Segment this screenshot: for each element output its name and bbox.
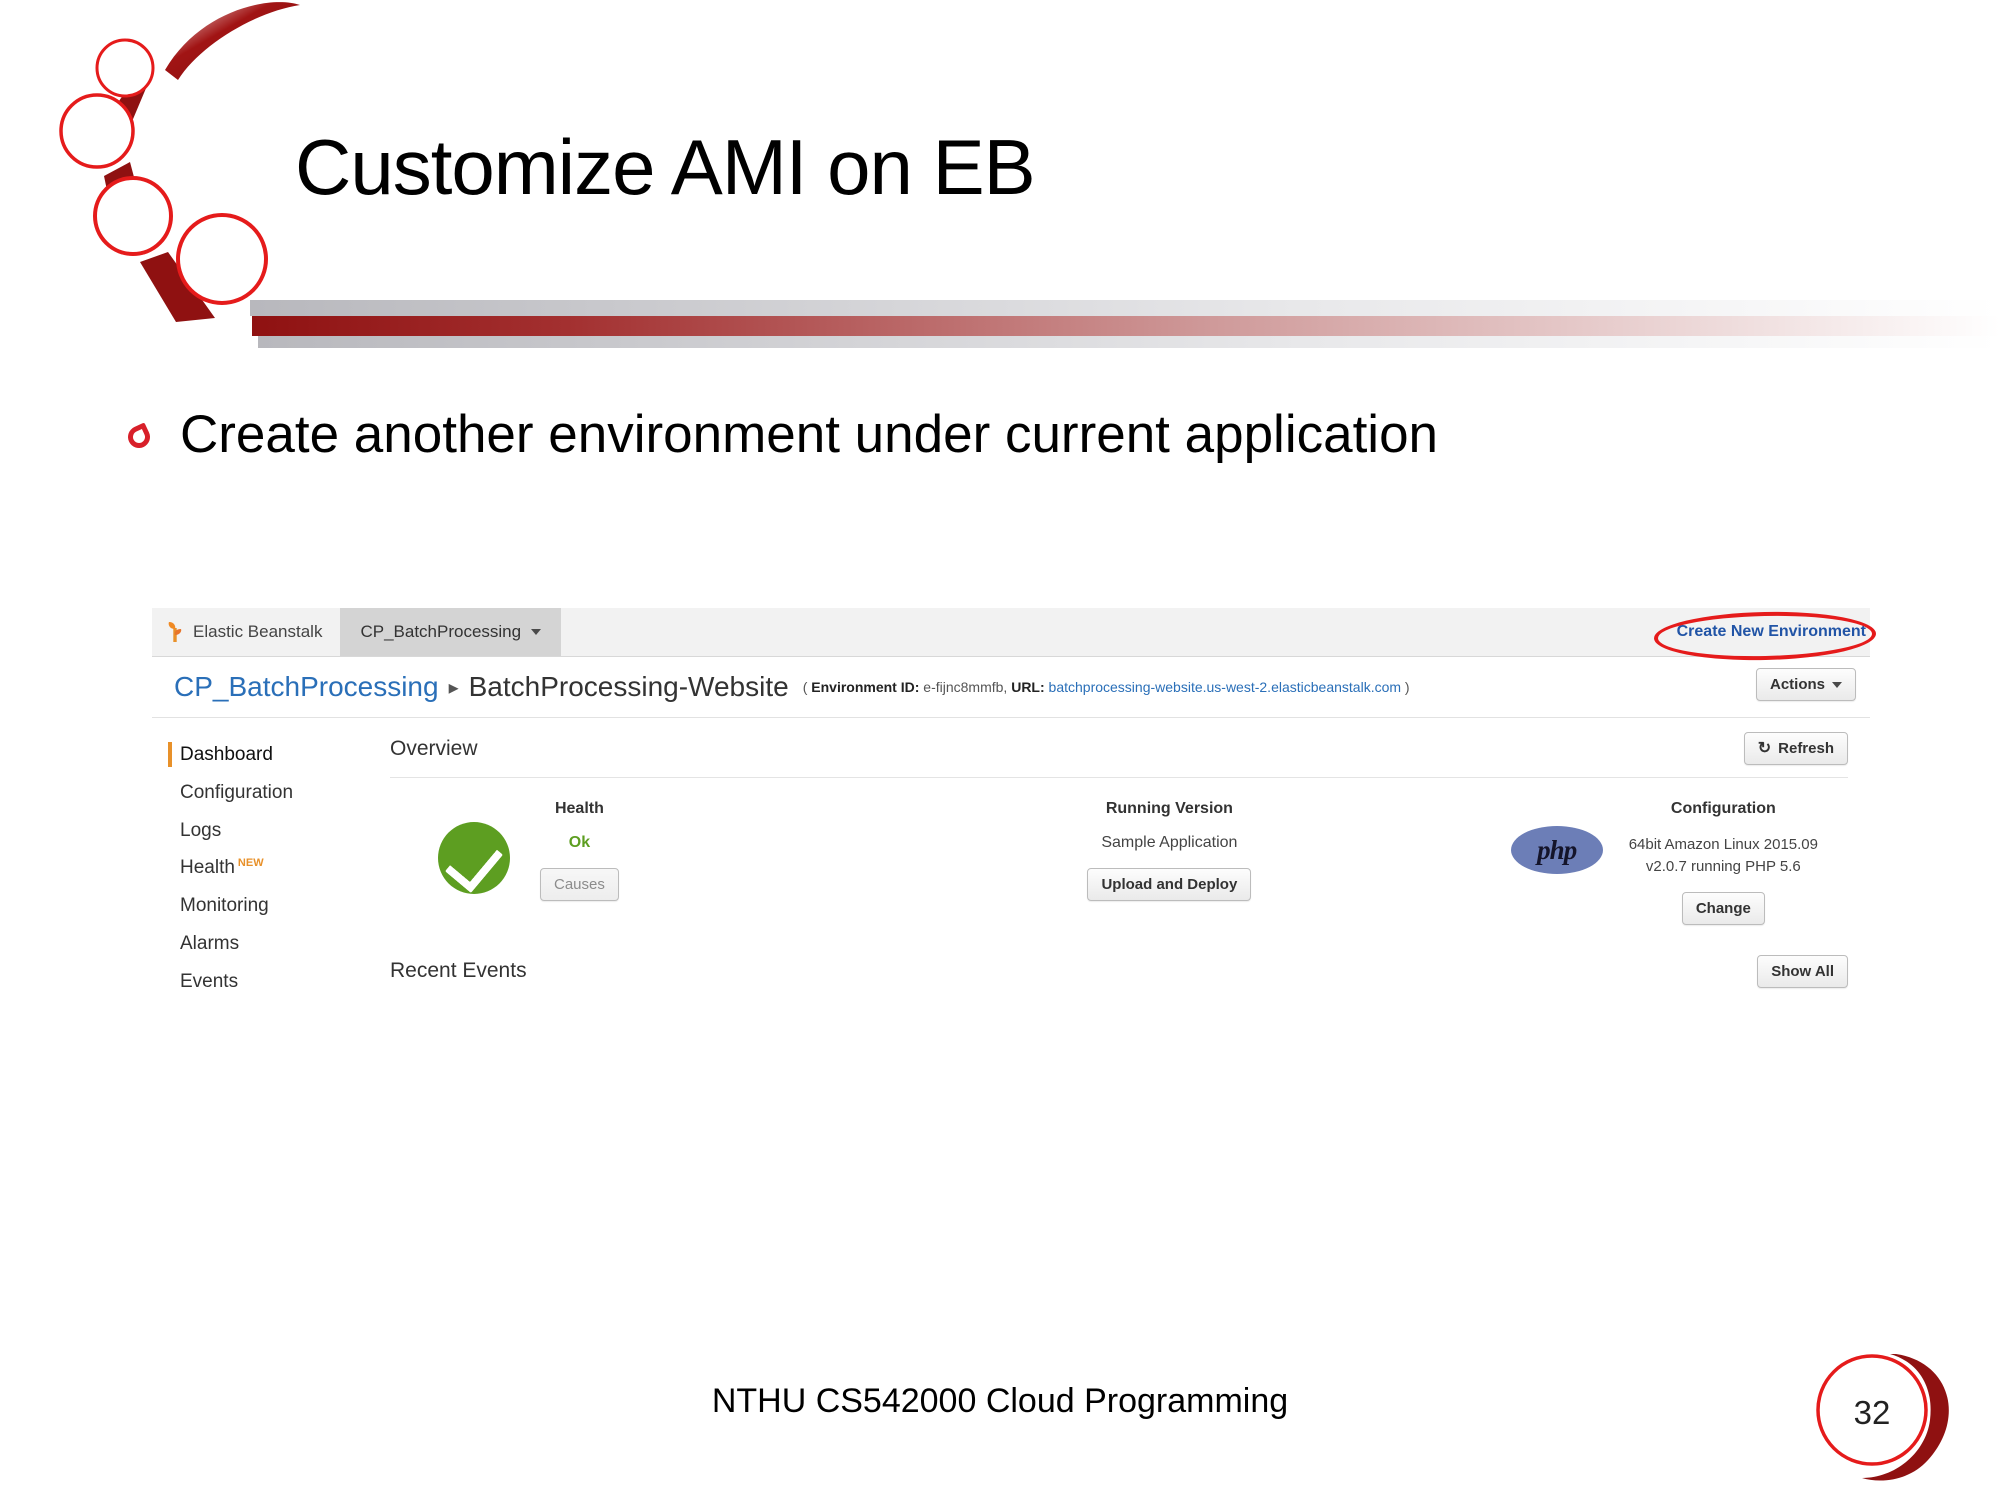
breadcrumb-environment: BatchProcessing-Website <box>469 671 789 703</box>
breadcrumb-separator-icon: ▸ <box>449 675 459 700</box>
overview-title: Overview <box>390 737 478 761</box>
sidebar-item-events[interactable]: Events <box>168 963 368 1001</box>
sidebar-item-alarms[interactable]: Alarms <box>168 925 368 963</box>
new-badge: NEW <box>238 857 264 869</box>
sidebar-item-label: Monitoring <box>180 895 269 916</box>
create-new-environment-label: Create New Environment <box>1677 623 1866 641</box>
refresh-icon: ↻ <box>1758 741 1771 757</box>
php-logo-icon: php <box>1511 826 1603 874</box>
refresh-button[interactable]: ↻ Refresh <box>1744 732 1848 765</box>
health-status: Ok <box>540 834 619 852</box>
overview-configuration-column: php Configuration 64bit Amazon Linux 201… <box>1404 800 1848 925</box>
sidebar-item-monitoring[interactable]: Monitoring <box>168 887 368 925</box>
show-all-button[interactable]: Show All <box>1757 955 1848 988</box>
sidebar-item-label: Alarms <box>180 933 239 954</box>
create-new-environment-link[interactable]: Create New Environment <box>1677 608 1870 656</box>
recent-events-title: Recent Events <box>390 959 527 983</box>
refresh-button-label: Refresh <box>1778 740 1834 757</box>
overview-running-version-column: Running Version Sample Application Uploa… <box>935 800 1404 925</box>
health-label: Health <box>540 800 619 818</box>
change-button-label: Change <box>1696 900 1751 917</box>
page-number-badge: 32 <box>1800 1348 1972 1484</box>
platform-line-2: v2.0.7 running PHP 5.6 <box>1629 856 1818 878</box>
sidebar-item-label: Logs <box>180 820 221 841</box>
tab-application-label: CP_BatchProcessing <box>360 622 521 642</box>
meta-open-paren: ( <box>803 679 808 695</box>
chevron-down-icon <box>1832 682 1842 688</box>
breadcrumb-application[interactable]: CP_BatchProcessing <box>174 671 439 703</box>
bullet-text: Create another environment under current… <box>180 404 1438 465</box>
beanstalk-icon <box>166 621 184 643</box>
breadcrumb: CP_BatchProcessing ▸ BatchProcessing-Web… <box>152 657 1870 718</box>
tab-application[interactable]: CP_BatchProcessing <box>340 608 561 656</box>
main-panel: Overview ↻ Refresh Health Ok Causes <box>368 718 1870 1000</box>
sidebar: Dashboard Configuration Logs HealthNEW M… <box>152 718 368 1000</box>
footer-text: NTHU CS542000 Cloud Programming <box>0 1382 2000 1421</box>
causes-button-label: Causes <box>554 876 605 893</box>
overview-columns: Health Ok Causes Running Version Sample … <box>390 778 1848 925</box>
health-ok-check-icon <box>438 822 510 894</box>
meta-close-paren: ) <box>1405 679 1410 695</box>
sidebar-item-label: Health <box>180 857 235 878</box>
sidebar-item-label: Events <box>180 971 238 992</box>
actions-button[interactable]: Actions <box>1756 668 1856 701</box>
page-number: 32 <box>1844 1394 1900 1432</box>
change-button[interactable]: Change <box>1682 892 1765 925</box>
overview-header: Overview ↻ Refresh <box>390 732 1848 778</box>
running-version-label: Running Version <box>1087 800 1251 818</box>
upload-and-deploy-label: Upload and Deploy <box>1101 876 1237 893</box>
causes-button[interactable]: Causes <box>540 868 619 901</box>
sidebar-item-health[interactable]: HealthNEW <box>168 849 368 887</box>
environment-url-link[interactable]: batchprocessing-website.us-west-2.elasti… <box>1049 679 1402 695</box>
recent-events-header: Recent Events Show All <box>390 955 1848 988</box>
configuration-label: Configuration <box>1629 800 1818 818</box>
sidebar-item-label: Configuration <box>180 782 293 803</box>
platform-line-1: 64bit Amazon Linux 2015.09 <box>1629 834 1818 856</box>
sidebar-item-dashboard[interactable]: Dashboard <box>168 736 368 774</box>
brand-label: Elastic Beanstalk <box>193 622 322 642</box>
environment-id-label: Environment ID: <box>811 679 919 695</box>
sidebar-item-configuration[interactable]: Configuration <box>168 774 368 812</box>
console-navbar: Elastic Beanstalk CP_BatchProcessing Cre… <box>152 608 1870 657</box>
aws-console-screenshot: Elastic Beanstalk CP_BatchProcessing Cre… <box>152 608 1870 1068</box>
navbar-spacer <box>561 608 1677 656</box>
elastic-beanstalk-brand[interactable]: Elastic Beanstalk <box>152 608 340 656</box>
bullet-marker-icon <box>128 426 150 448</box>
chevron-down-icon <box>531 629 541 635</box>
show-all-button-label: Show All <box>1771 963 1834 980</box>
environment-meta: ( Environment ID: e-fijnc8mmfb, URL: bat… <box>803 679 1410 695</box>
upload-and-deploy-button[interactable]: Upload and Deploy <box>1087 868 1251 901</box>
url-label: URL: <box>1011 679 1044 695</box>
overview-health-column: Health Ok Causes <box>390 800 935 925</box>
running-version-value: Sample Application <box>1087 834 1251 852</box>
environment-id-value: e-fijnc8mmfb, <box>923 679 1007 695</box>
actions-button-label: Actions <box>1770 676 1825 693</box>
sidebar-item-label: Dashboard <box>180 744 273 765</box>
sidebar-item-logs[interactable]: Logs <box>168 812 368 850</box>
bullet-item: Create another environment under current… <box>128 404 1438 465</box>
console-body: Dashboard Configuration Logs HealthNEW M… <box>152 718 1870 1000</box>
page-title: Customize AMI on EB <box>295 122 1035 213</box>
